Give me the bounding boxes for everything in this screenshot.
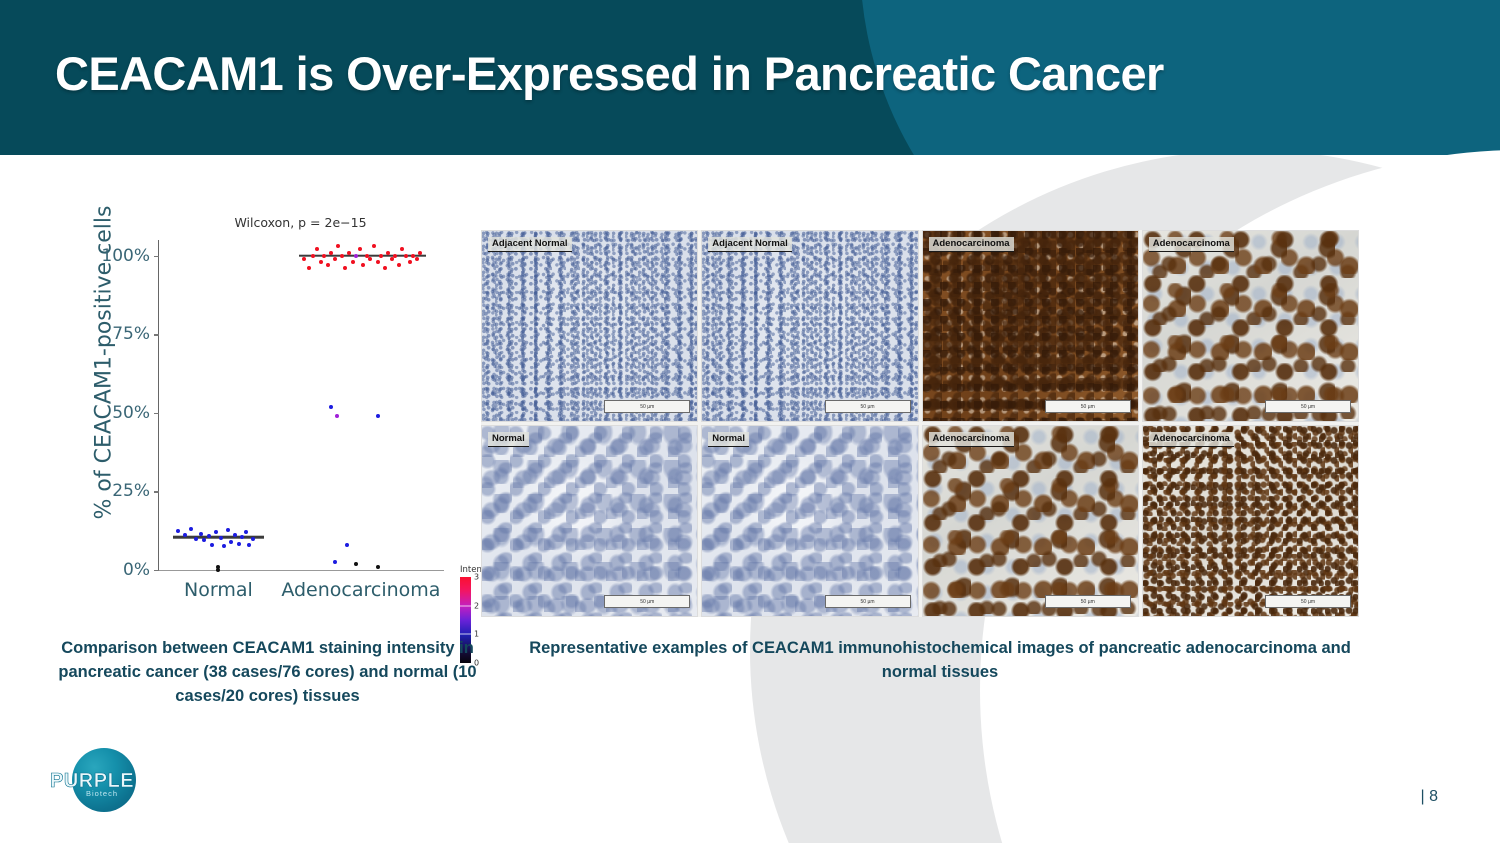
legend-notch bbox=[460, 634, 471, 635]
histology-caption: Representative examples of CEACAM1 immun… bbox=[520, 637, 1360, 685]
slide-canvas: CEACAM1 is Over-Expressed in Pancreatic … bbox=[0, 0, 1500, 843]
data-point bbox=[237, 542, 241, 546]
data-point bbox=[240, 535, 244, 539]
panel-label: Adenocarcinoma bbox=[1149, 432, 1234, 447]
scale-bar-label: 50 µm bbox=[1081, 599, 1095, 605]
ceacam1-scatter-chart: Wilcoxon, p = 2e−15 % of CEACAM1-positiv… bbox=[48, 200, 488, 630]
company-logo: PURPLE Biotech bbox=[50, 748, 142, 816]
data-point bbox=[376, 565, 380, 569]
data-point bbox=[351, 260, 355, 264]
data-point bbox=[376, 414, 380, 418]
data-point bbox=[214, 530, 218, 534]
title-banner: CEACAM1 is Over-Expressed in Pancreatic … bbox=[0, 0, 1500, 155]
tissue-image bbox=[482, 426, 697, 616]
data-point bbox=[233, 533, 237, 537]
histology-panel: Adjacent Normal50 µm bbox=[701, 230, 918, 422]
data-point bbox=[322, 254, 326, 258]
data-point bbox=[329, 251, 333, 255]
tissue-image bbox=[702, 231, 917, 421]
panel-label: Adjacent Normal bbox=[488, 237, 572, 252]
data-point bbox=[340, 254, 344, 258]
data-point bbox=[372, 244, 376, 248]
histology-panel: Adjacent Normal50 µm bbox=[481, 230, 698, 422]
data-point bbox=[311, 254, 315, 258]
slide-content: Wilcoxon, p = 2e−15 % of CEACAM1-positiv… bbox=[0, 155, 1500, 843]
panel-label: Adenocarcinoma bbox=[929, 432, 1014, 447]
panel-label: Adenocarcinoma bbox=[929, 237, 1014, 252]
panel-label: Normal bbox=[488, 432, 529, 447]
data-point bbox=[404, 254, 408, 258]
x-axis-tick: Adenocarcinoma bbox=[281, 579, 440, 601]
chart-title-pvalue: Wilcoxon, p = 2e−15 bbox=[213, 210, 388, 236]
y-axis-tick: 0% bbox=[88, 560, 159, 580]
histology-panel: Normal50 µm bbox=[701, 425, 918, 617]
data-point bbox=[358, 247, 362, 251]
data-point bbox=[379, 254, 383, 258]
legend-tick: 3 bbox=[474, 573, 479, 582]
data-point bbox=[307, 266, 311, 270]
data-point bbox=[390, 257, 394, 261]
data-point bbox=[415, 257, 419, 261]
data-point bbox=[408, 260, 412, 264]
scale-bar: 50 µm bbox=[825, 595, 911, 608]
logo-subtext: Biotech bbox=[86, 789, 118, 798]
data-point bbox=[189, 527, 193, 531]
histology-panel: Adenocarcinoma50 µm bbox=[922, 230, 1139, 422]
data-point bbox=[393, 254, 397, 258]
data-point bbox=[383, 266, 387, 270]
data-point bbox=[354, 254, 358, 258]
data-point bbox=[345, 543, 349, 547]
data-point bbox=[222, 544, 226, 548]
panel-label: Adjacent Normal bbox=[708, 237, 792, 252]
data-point bbox=[368, 257, 372, 261]
data-point bbox=[244, 530, 248, 534]
chart-caption: Comparison between CEACAM1 staining inte… bbox=[55, 637, 480, 709]
data-point bbox=[194, 537, 198, 541]
legend-notch bbox=[460, 605, 471, 606]
data-point bbox=[335, 414, 339, 418]
y-axis-tick: 50% bbox=[88, 403, 159, 423]
data-point bbox=[361, 263, 365, 267]
legend-tick: 2 bbox=[474, 601, 479, 610]
histology-panel: Adenocarcinoma50 µm bbox=[1142, 230, 1359, 422]
tissue-image bbox=[1143, 231, 1358, 421]
scale-bar-label: 50 µm bbox=[1301, 404, 1315, 410]
data-point bbox=[343, 266, 347, 270]
data-point bbox=[397, 263, 401, 267]
histology-panel: Adenocarcinoma50 µm bbox=[922, 425, 1139, 617]
data-point bbox=[229, 540, 233, 544]
data-point bbox=[219, 536, 223, 540]
data-point bbox=[199, 532, 203, 536]
data-point bbox=[347, 251, 351, 255]
scale-bar-label: 50 µm bbox=[640, 599, 654, 605]
histology-panel: Normal50 µm bbox=[481, 425, 698, 617]
data-point bbox=[315, 247, 319, 251]
scale-bar-label: 50 µm bbox=[861, 404, 875, 410]
data-point bbox=[251, 537, 255, 541]
data-point bbox=[226, 528, 230, 532]
data-point bbox=[336, 244, 340, 248]
data-point bbox=[376, 260, 380, 264]
data-point bbox=[216, 568, 220, 572]
y-axis-tick: 25% bbox=[88, 481, 159, 501]
page-number: | 8 bbox=[1421, 788, 1439, 806]
tissue-image bbox=[923, 231, 1138, 421]
scale-bar: 50 µm bbox=[1265, 400, 1351, 413]
scale-bar-label: 50 µm bbox=[1301, 599, 1315, 605]
scale-bar-label: 50 µm bbox=[1081, 404, 1095, 410]
x-axis-tick: Normal bbox=[184, 579, 253, 601]
data-point bbox=[333, 257, 337, 261]
data-point bbox=[400, 247, 404, 251]
scale-bar: 50 µm bbox=[825, 400, 911, 413]
scale-bar-label: 50 µm bbox=[640, 404, 654, 410]
scale-bar-label: 50 µm bbox=[861, 599, 875, 605]
tissue-image bbox=[923, 426, 1138, 616]
tissue-image bbox=[1143, 426, 1358, 616]
histology-panel: Adenocarcinoma50 µm bbox=[1142, 425, 1359, 617]
data-point bbox=[326, 263, 330, 267]
data-point bbox=[176, 529, 180, 533]
page-title: CEACAM1 is Over-Expressed in Pancreatic … bbox=[55, 46, 1164, 101]
data-point bbox=[354, 562, 358, 566]
scale-bar: 50 µm bbox=[1045, 595, 1131, 608]
data-point bbox=[210, 543, 214, 547]
data-point bbox=[202, 538, 206, 542]
scale-bar: 50 µm bbox=[604, 400, 690, 413]
plot-area: 0%25%50%75%100%NormalAdenocarcinoma bbox=[158, 240, 444, 571]
scale-bar: 50 µm bbox=[1265, 595, 1351, 608]
scale-bar: 50 µm bbox=[1045, 400, 1131, 413]
y-axis-tick: 100% bbox=[88, 246, 159, 266]
data-point bbox=[386, 251, 390, 255]
data-point bbox=[207, 534, 211, 538]
histology-panel-grid: Adjacent Normal50 µmAdjacent Normal50 µm… bbox=[481, 230, 1359, 617]
data-point bbox=[183, 533, 187, 537]
data-point bbox=[247, 543, 251, 547]
scale-bar: 50 µm bbox=[604, 595, 690, 608]
data-point bbox=[333, 560, 337, 564]
data-point bbox=[302, 257, 306, 261]
data-point bbox=[319, 260, 323, 264]
panel-label: Adenocarcinoma bbox=[1149, 237, 1234, 252]
y-axis-tick: 75% bbox=[88, 324, 159, 344]
tissue-image bbox=[702, 426, 917, 616]
data-point bbox=[329, 405, 333, 409]
data-point bbox=[418, 251, 422, 255]
tissue-image bbox=[482, 231, 697, 421]
panel-label: Normal bbox=[708, 432, 749, 447]
